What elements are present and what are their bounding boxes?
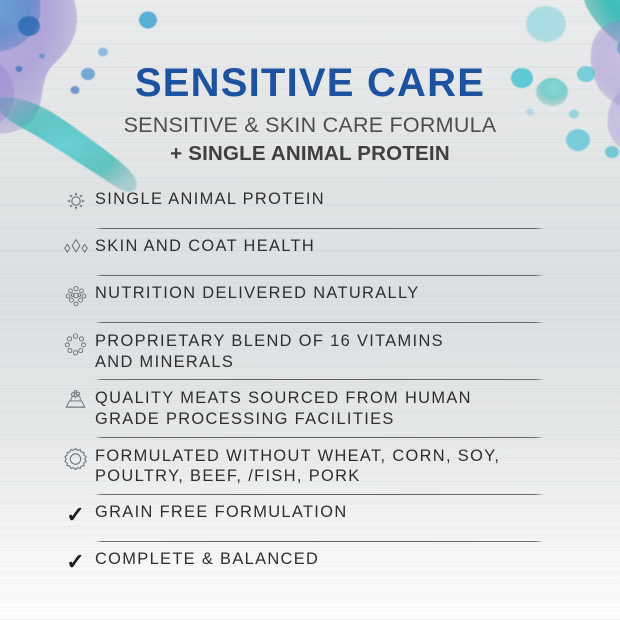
sparkle-diamonds-icon — [56, 235, 95, 257]
feature-label: FORMULATED WITHOUT WHEAT, CORN, SOY, POU… — [95, 445, 544, 487]
checkmark-icon: ✓ — [56, 501, 95, 526]
feature-row: NUTRITION DELIVERED NATURALLY — [56, 276, 544, 322]
feature-label: PROPRIETARY BLEND OF 16 VITAMINS AND MIN… — [95, 330, 544, 372]
feature-row: PROPRIETARY BLEND OF 16 VITAMINS AND MIN… — [56, 323, 544, 379]
feature-row: FORMULATED WITHOUT WHEAT, CORN, SOY, POU… — [56, 438, 544, 494]
feature-row: QUALITY MEATS SOURCED FROM HUMAN GRADE P… — [56, 380, 544, 436]
seal-badge-icon — [56, 445, 95, 472]
feature-row: SKIN AND COAT HEALTH — [56, 229, 544, 275]
product-feature-panel: SENSITIVE CARE SENSITIVE & SKIN CARE FOR… — [0, 0, 620, 620]
header-block: SENSITIVE CARE SENSITIVE & SKIN CARE FOR… — [0, 62, 620, 166]
meat-bowl-icon — [56, 387, 95, 412]
feature-label: QUALITY MEATS SOURCED FROM HUMAN GRADE P… — [95, 387, 544, 429]
molecule-cluster-icon — [56, 282, 95, 308]
feature-label: SKIN AND COAT HEALTH — [95, 235, 544, 257]
molecule-ring-icon — [56, 330, 95, 357]
page-title: SENSITIVE CARE — [0, 62, 620, 104]
feature-list: SINGLE ANIMAL PROTEIN SKIN AND COAT HEAL… — [56, 182, 544, 588]
feature-label: SINGLE ANIMAL PROTEIN — [95, 188, 544, 210]
feature-row: ✓GRAIN FREE FORMULATION — [56, 495, 544, 541]
subtitle-secondary: + SINGLE ANIMAL PROTEIN — [0, 142, 620, 166]
feature-label: GRAIN FREE FORMULATION — [95, 501, 544, 523]
subtitle-primary: SENSITIVE & SKIN CARE FORMULA — [0, 113, 620, 138]
checkmark-icon: ✓ — [56, 548, 95, 573]
feature-row: ✓COMPLETE & BALANCED — [56, 542, 544, 588]
sunburst-icon — [56, 188, 95, 212]
feature-label: NUTRITION DELIVERED NATURALLY — [95, 282, 544, 304]
feature-row: SINGLE ANIMAL PROTEIN — [56, 182, 544, 228]
feature-label: COMPLETE & BALANCED — [95, 548, 544, 570]
